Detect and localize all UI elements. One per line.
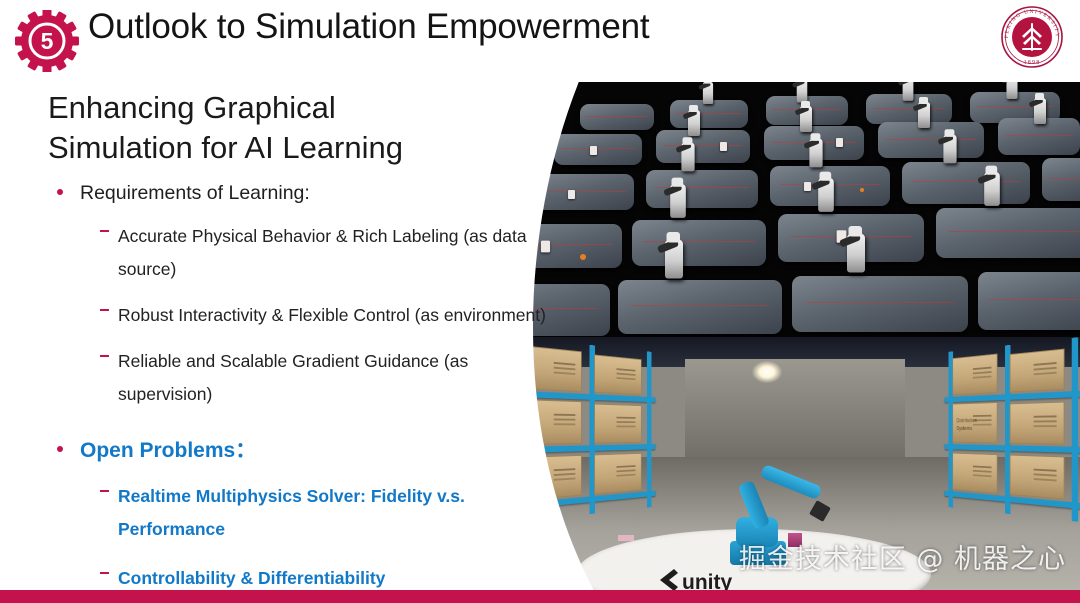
slide-canvas: 5 Outlook to Simulation Empowerment <box>0 0 1080 603</box>
sub-bullet-label: Robust Interactivity & Flexible Control … <box>118 299 548 332</box>
pale-block <box>618 535 634 541</box>
watermark-text: 掘金技术社区 @ 机器之心 <box>739 537 1066 576</box>
bullet-label: Requirements of Learning: <box>80 182 310 204</box>
section-number-gear-icon: 5 <box>12 10 82 72</box>
carton-label: Distribution <box>956 418 977 425</box>
subheading-line-1: Enhancing Graphical <box>48 88 518 128</box>
bullet-label: Open Problems： <box>80 439 256 462</box>
dash-icon <box>100 490 109 492</box>
unity-wordmark: unity <box>682 571 732 590</box>
bullet-open-problems: Open Problems： <box>48 437 548 464</box>
sub-bullet-label: Realtime Multiphysics Solver: Fidelity v… <box>118 480 548 546</box>
dash-icon <box>100 309 109 311</box>
bullet-list: Requirements of Learning: Accurate Physi… <box>48 180 548 595</box>
section-subheading: Enhancing Graphical Simulation for AI Le… <box>48 88 518 168</box>
bottom-accent-bar <box>0 590 1080 603</box>
bullet-requirements: Requirements of Learning: <box>48 180 548 207</box>
media-panel: Distribution Systems unity <box>520 82 1080 590</box>
slide-header: 5 Outlook to Simulation Empowerment <box>0 0 1080 80</box>
sub-bullet-reliable-gradient-guidance: Reliable and Scalable Gradient Guidance … <box>48 345 548 411</box>
dash-icon <box>100 572 109 574</box>
logo-year-text: 1898 <box>1024 60 1041 66</box>
sub-bullet-realtime-multiphysics-solver: Realtime Multiphysics Solver: Fidelity v… <box>48 480 548 546</box>
subheading-line-2: Simulation for AI Learning <box>48 128 518 168</box>
sub-bullet-label: Reliable and Scalable Gradient Guidance … <box>118 345 548 411</box>
sub-bullet-accurate-physical-behavior: Accurate Physical Behavior & Rich Labeli… <box>48 220 548 286</box>
warehouse-back-wall <box>685 359 905 464</box>
peking-university-logo: PEKING UNIVERSITY 1898 <box>998 3 1066 71</box>
page-title: Outlook to Simulation Empowerment <box>88 7 649 47</box>
bullet-dot-icon <box>57 446 63 452</box>
sub-bullet-label: Accurate Physical Behavior & Rich Labeli… <box>118 220 548 286</box>
shelving-rack-right: Distribution Systems <box>945 337 1080 522</box>
bullet-dot-icon <box>57 189 63 195</box>
dash-icon <box>100 355 109 357</box>
carton-label-2: Systems <box>956 426 972 433</box>
section-number-text: 5 <box>41 28 54 54</box>
robot-simulation-farm-image <box>520 82 1080 337</box>
sub-bullet-robust-interactivity: Robust Interactivity & Flexible Control … <box>48 299 548 332</box>
ceiling-lamp-icon <box>752 361 782 383</box>
dash-icon <box>100 230 109 232</box>
